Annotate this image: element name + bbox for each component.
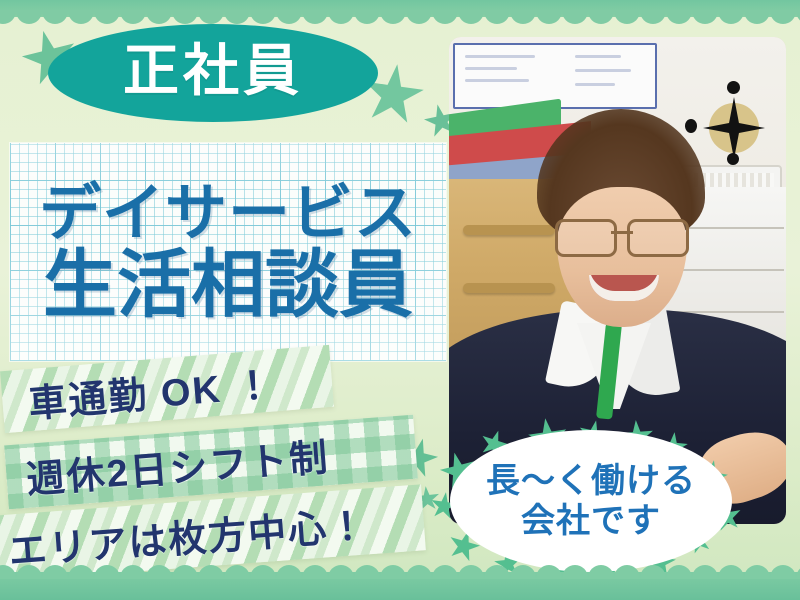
speech-bubble: 長〜く働ける 会社です: [432, 418, 748, 584]
bubble-line2: 会社です: [521, 501, 661, 541]
bottom-band: [0, 572, 800, 600]
badge-label: 正社員: [123, 43, 303, 99]
job-title-line2: 生活相談員: [43, 249, 413, 322]
photo-person-glasses: [555, 219, 689, 253]
scallop-edge: [0, 10, 800, 24]
top-band: [0, 0, 800, 17]
bubble-line1: 長〜く働ける: [486, 461, 696, 501]
bubble-text: 長〜く働ける 会社です: [450, 430, 732, 572]
job-title-line1: デイサービス: [39, 184, 417, 245]
job-title: デイサービス 生活相談員: [10, 150, 446, 356]
job-ad-banner: 正社員 デイサービス 生活相談員 車通勤 OK ！ 週休2日シフト制 エリアは枚…: [0, 0, 800, 600]
employment-type-badge: 正社員: [48, 24, 378, 122]
sparkle-icon: [695, 81, 765, 165]
